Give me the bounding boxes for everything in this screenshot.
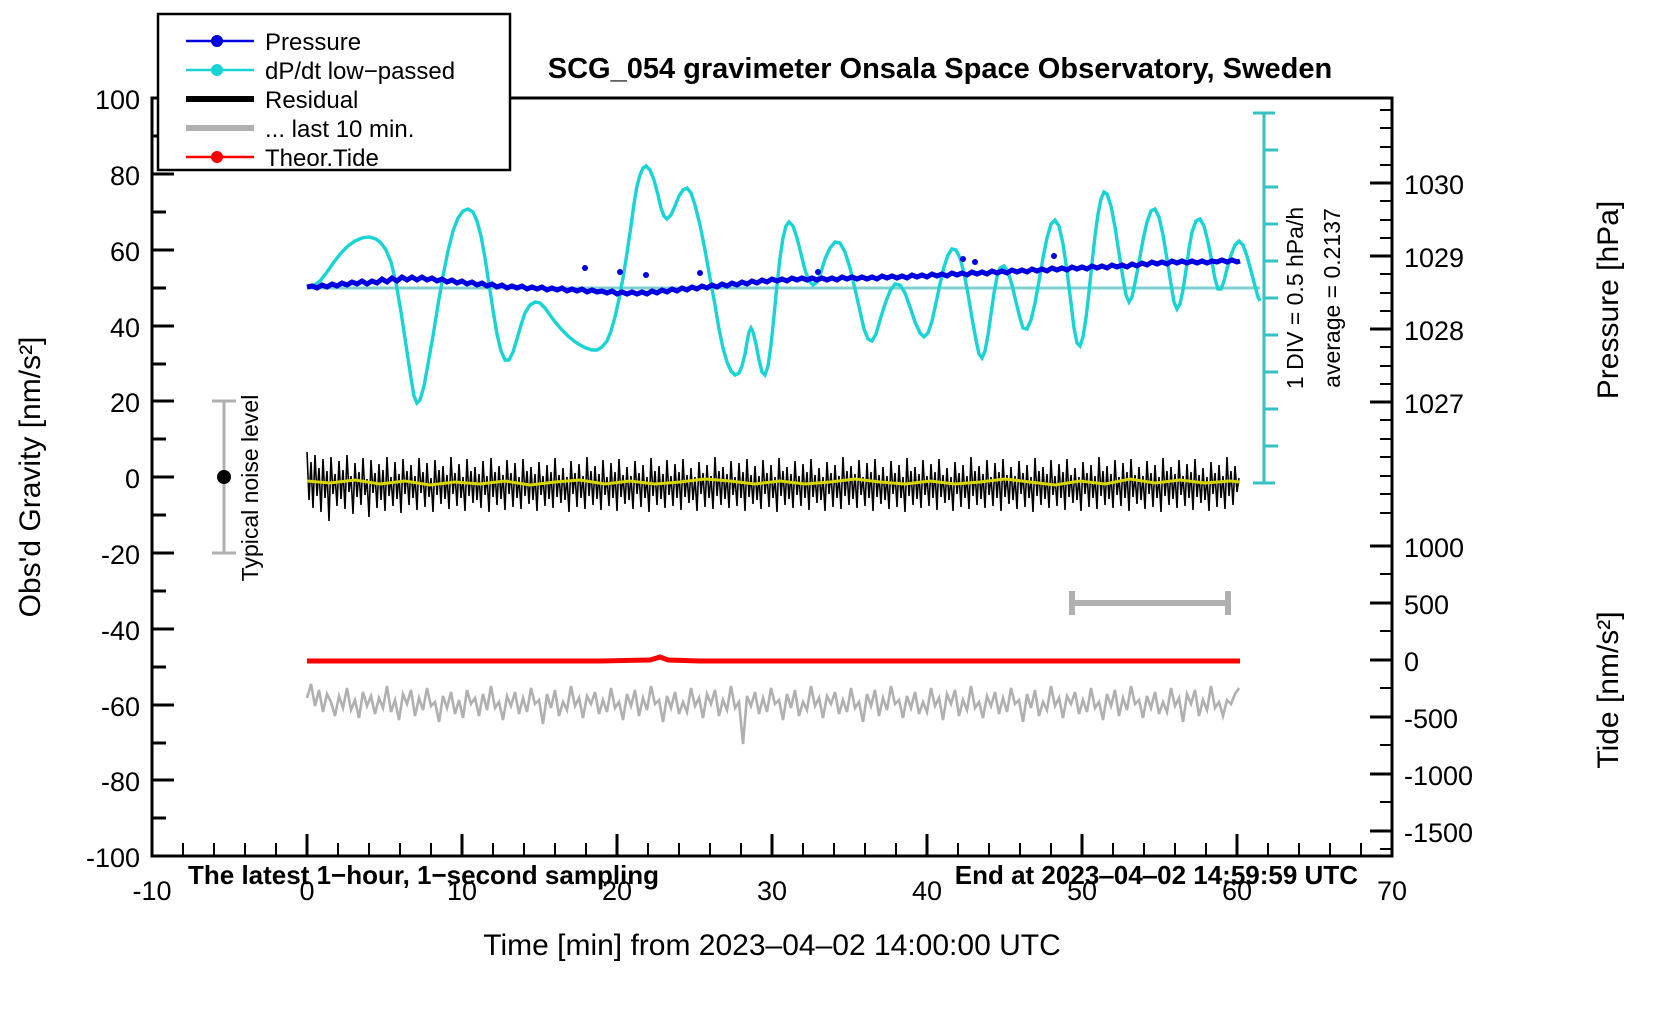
- legend-label: Theor.Tide: [265, 145, 379, 172]
- y-tick-label: 40: [110, 313, 140, 343]
- y-axis-right-tide-title: Tide [nm/s²]: [1592, 611, 1625, 768]
- page-title: SCG_054 gravimeter Onsala Space Observat…: [548, 53, 1332, 85]
- tide-tick-label: 0: [1404, 647, 1419, 677]
- x-tick-label: -10: [132, 876, 171, 906]
- legend: Pressure dP/dt low−passed Residual ... l…: [158, 14, 510, 172]
- y-tick-label: 100: [95, 85, 140, 115]
- pressure-tick-label: 1029: [1404, 243, 1464, 273]
- y-tick-label: 0: [125, 464, 140, 494]
- y-tick-label: -40: [101, 616, 140, 646]
- y-axis-right-pressure-title: Pressure [hPa]: [1592, 201, 1625, 399]
- scale-div-label: 1 DIV = 0.5 hPa/h: [1282, 207, 1308, 389]
- tide-tick-label: 1000: [1404, 533, 1464, 563]
- legend-swatch-marker: [211, 151, 223, 163]
- tide-tick-label: -500: [1404, 704, 1458, 734]
- legend-label: dP/dt low−passed: [265, 58, 455, 85]
- y-tick-label: 80: [110, 161, 140, 191]
- pressure-tick-label: 1028: [1404, 316, 1464, 346]
- y-tick-label: -20: [101, 540, 140, 570]
- y-tick-label: 20: [110, 388, 140, 418]
- x-tick-label: 30: [757, 876, 787, 906]
- tide-tick-label: 500: [1404, 590, 1449, 620]
- y-tick-label: -60: [101, 692, 140, 722]
- legend-swatch-marker: [211, 64, 223, 76]
- y-tick-label: -80: [101, 767, 140, 797]
- legend-label: ... last 10 min.: [265, 116, 414, 143]
- chart-root: 100 80 60 40 20 0 -20 -40 -60 -80 -100 O…: [0, 0, 1660, 1020]
- gravimeter-plot: 100 80 60 40 20 0 -20 -40 -60 -80 -100 O…: [0, 0, 1660, 1020]
- legend-label: Residual: [265, 87, 358, 114]
- x-tick-label: 70: [1377, 876, 1407, 906]
- y-tick-label: 60: [110, 237, 140, 267]
- x-tick-label: 40: [912, 876, 942, 906]
- y-tick-label: -100: [86, 843, 140, 873]
- pressure-tick-label: 1027: [1404, 389, 1464, 419]
- x-axis-title: Time [min] from 2023‒04‒02 14:00:00 UTC: [483, 929, 1061, 962]
- y-axis-left-title: Obs'd Gravity [nm/s²]: [14, 337, 47, 618]
- legend-label: Pressure: [265, 29, 361, 56]
- footer-left-label: The latest 1−hour, 1−second sampling: [188, 860, 659, 890]
- tide-tick-label: -1500: [1404, 818, 1473, 848]
- tide-tick-label: -1000: [1404, 761, 1473, 791]
- legend-swatch-marker: [211, 35, 223, 47]
- footer-right-label: End at 2023‒04‒02 14:59:59 UTC: [955, 860, 1358, 890]
- scale-average-label: average = 0.2137: [1319, 208, 1345, 388]
- typical-noise-level-label: Typical noise level: [237, 395, 263, 582]
- pressure-tick-label: 1030: [1404, 170, 1464, 200]
